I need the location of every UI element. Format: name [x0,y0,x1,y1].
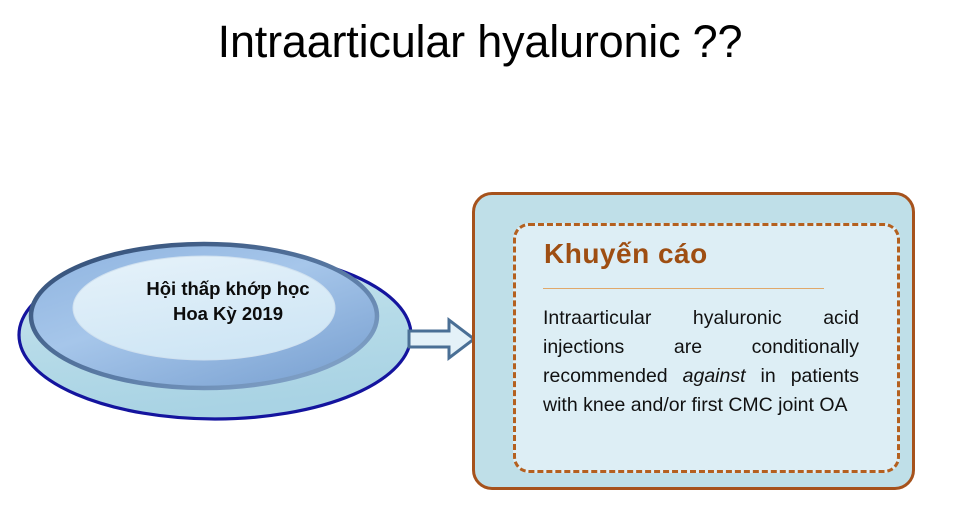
callout-divider [543,288,824,289]
callout-body: Intraarticular hyaluronic acid injection… [543,304,859,420]
callout-heading: Khuyến cáo [544,238,708,270]
callout-body-emphasis: against [683,365,746,387]
stacked-disc-shape [8,236,438,426]
right-arrow-icon [407,316,477,362]
connector-arrow [407,316,477,362]
source-shape: Hội thấp khớp học Hoa Kỳ 2019 [8,236,438,426]
recommendation-callout-inner: Khuyến cáo Intraarticular hyaluronic aci… [513,223,900,473]
recommendation-callout: Khuyến cáo Intraarticular hyaluronic aci… [472,192,915,490]
arrow-body [409,320,474,358]
page-title: Intraarticular hyaluronic ?? [0,16,960,68]
disc-center [73,256,335,360]
